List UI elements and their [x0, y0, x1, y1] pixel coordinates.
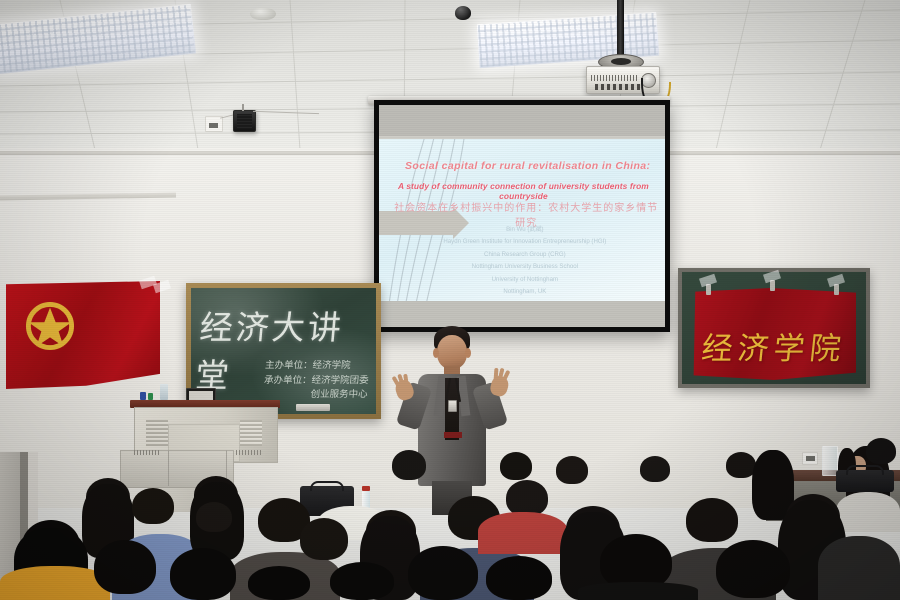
banner-clip	[834, 284, 839, 295]
slide-subtitle: A study of community connection of unive…	[385, 181, 662, 201]
projector-ports	[595, 84, 641, 90]
outlet-socket	[209, 123, 218, 128]
banner-clip	[706, 284, 711, 295]
audience-shoulders	[578, 582, 698, 600]
projection-screen: Social capital for rural revitalisation …	[374, 100, 670, 332]
audience-head	[300, 518, 348, 560]
backpack	[836, 470, 894, 492]
slide-author-line: Nottingham, UK	[408, 286, 643, 298]
presenter-ear	[465, 348, 471, 358]
presenter-name-badge	[448, 400, 457, 412]
wall-outlet-plate	[802, 452, 818, 465]
audience-head	[500, 452, 532, 480]
presenter-head	[437, 335, 467, 369]
box-label	[236, 450, 262, 455]
audience-head-foreground	[248, 566, 310, 600]
screen-surface: Social capital for rural revitalisation …	[379, 105, 665, 327]
audience-head	[196, 502, 232, 532]
audience-head	[392, 450, 426, 480]
audience-head-foreground	[408, 546, 478, 600]
wall-mounted-speaker	[233, 110, 256, 132]
lectern-bottle	[160, 384, 168, 400]
lecture-hall-photo: Social capital for rural revitalisation …	[0, 0, 900, 600]
audience-head	[132, 488, 174, 524]
school-of-economics-banner: 经济学院	[692, 288, 856, 380]
lectern-marker	[148, 393, 153, 400]
presenter	[392, 326, 512, 511]
speaker-stem	[242, 104, 244, 111]
projector-vent	[591, 75, 637, 81]
audience-head-foreground	[170, 548, 236, 600]
audience-head-foreground	[94, 540, 156, 594]
audience-head	[686, 498, 738, 542]
audience-head	[866, 438, 896, 464]
projected-slide: Social capital for rural revitalisation …	[379, 139, 665, 301]
slide-title: Social capital for rural revitalisation …	[396, 160, 659, 172]
slide-author-line: Nottingham University Business School	[408, 261, 643, 273]
presenter-ear	[433, 348, 439, 358]
audience-shoulders	[836, 492, 900, 532]
slide-author-line: Haydn Green Institute for Innovation Ent…	[408, 236, 643, 248]
slide-author-line: China Research Group (CRG)	[408, 249, 643, 261]
blackboard-line: 主办单位：经济学院	[265, 359, 371, 374]
slide-author-line: University of Nottingham	[408, 274, 643, 286]
banner-text: 经济学院	[690, 323, 859, 368]
bottle-cap	[362, 486, 370, 491]
lectern-marker	[140, 392, 146, 400]
audience-head	[506, 480, 548, 516]
audience-shoulders	[818, 536, 900, 600]
presenter-belt	[444, 432, 462, 438]
slide-author-line: Bin Wu (武斌)	[408, 224, 643, 236]
chalk-tray	[296, 404, 330, 411]
smoke-detector	[250, 8, 276, 20]
blackboard-detail-lines: 主办单位：经济学院 承办单位：经济学院团委 创业服务中心	[263, 359, 371, 403]
outlet-socket	[806, 456, 815, 461]
box-divider	[168, 450, 169, 486]
audience-head	[640, 456, 670, 482]
blackboard-surface: 经济大讲堂 主办单位：经济学院 承办单位：经济学院团委 创业服务中心	[191, 288, 376, 414]
presenter-finger	[403, 374, 409, 386]
audience-head	[556, 456, 588, 484]
audience-head-foreground	[486, 556, 552, 600]
banner-clip	[770, 280, 775, 291]
slide-author-block: Bin Wu (武斌) Haydn Green Institute for In…	[408, 224, 643, 299]
communist-youth-league-flag	[6, 281, 160, 389]
blackboard-line: 承办单位：经济学院团委	[264, 373, 370, 388]
box-label	[134, 450, 160, 455]
projector-mount-pole	[617, 0, 624, 58]
audience-head-foreground	[716, 540, 790, 598]
gold-star-in-circle-icon	[23, 299, 77, 353]
lectern-speaker-grille	[240, 420, 262, 446]
lectern-speaker-grille	[146, 420, 168, 446]
audience-head-foreground	[330, 562, 394, 600]
ceiling-dome-sensor	[455, 6, 471, 20]
audience-shoulders	[478, 512, 568, 554]
